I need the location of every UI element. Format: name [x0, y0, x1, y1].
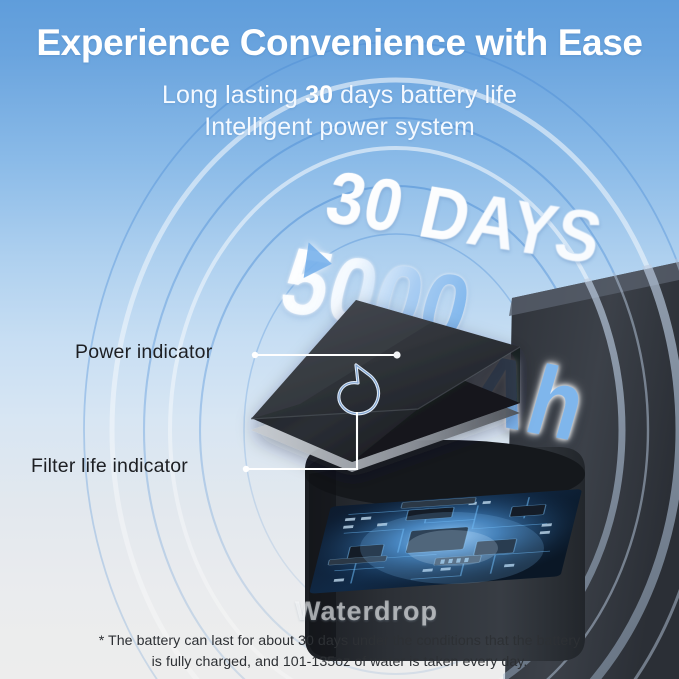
subtitle-line1-after: days battery life: [333, 81, 517, 109]
hero-capacity-number: 5000: [270, 228, 481, 364]
callout-label-power-indicator: Power indicator: [75, 341, 212, 364]
leader-filter-life-indicator: [243, 412, 357, 472]
hero-capacity-unit: mAh: [377, 318, 599, 464]
page-title: Experience Convenience with Ease: [0, 24, 679, 63]
callout-label-filter-life-indicator: Filter life indicator: [31, 455, 188, 478]
device-lid: [251, 300, 520, 472]
footnote-line-2: is fully charged, and 101-135oz of water…: [60, 652, 619, 673]
subtitle: Long lasting 30 days battery life Intell…: [0, 79, 679, 143]
device-body: [305, 440, 585, 661]
footnote-disclaimer: * The battery can last for about 30 days…: [60, 631, 619, 672]
play-arrow-icon: [304, 242, 335, 281]
hero-marketing-text: 30 DAYS 5000 mAh: [300, 150, 679, 440]
subtitle-highlight: 30: [305, 81, 333, 109]
hero-days-text: 30 DAYS: [319, 154, 611, 280]
subtitle-line-2: Intelligent power system: [0, 111, 679, 143]
brand-watermark: Waterdrop: [295, 596, 438, 627]
power-indicator-led: [393, 351, 400, 358]
footnote-line-1: * The battery can last for about 30 days…: [60, 631, 619, 652]
subtitle-line1-before: Long lasting: [162, 81, 305, 109]
subtitle-line-1: Long lasting 30 days battery life: [0, 79, 679, 111]
product-feature-banner: 30 DAYS 5000 mAh: [0, 0, 679, 679]
circuit-board: [309, 489, 582, 594]
water-drop-icon: [339, 365, 379, 414]
leader-power-indicator: [252, 352, 394, 358]
